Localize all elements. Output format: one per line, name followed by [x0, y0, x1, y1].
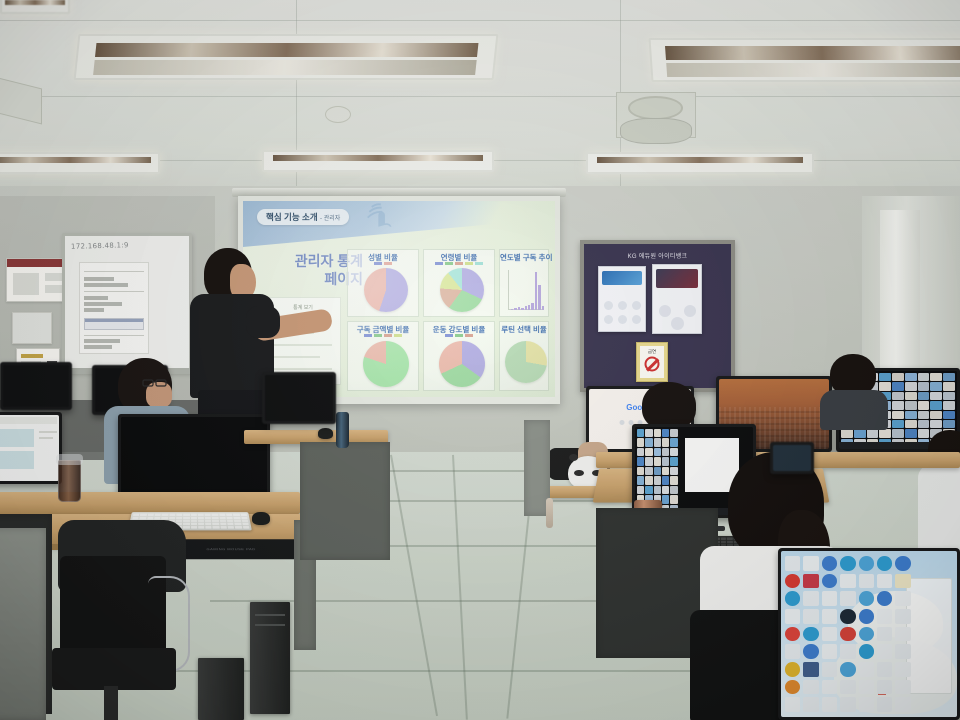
slide-header-sub: - 관리자 — [320, 216, 340, 222]
smoke-detector-icon — [325, 106, 351, 123]
chart-card-yearly: 연도별 구독 추이 — [499, 249, 549, 317]
monitor-back-left — [0, 362, 72, 410]
monitor-foreground-desktop — [778, 548, 960, 720]
chart-card-intensity: 운동 강도별 비율 — [423, 321, 495, 391]
pie-routine — [505, 341, 547, 383]
pie-age — [440, 268, 484, 312]
evacuation-map-poster — [6, 258, 68, 302]
pie-gender — [364, 268, 408, 312]
whiteboard-handout — [79, 262, 149, 354]
ceiling-light — [262, 150, 494, 172]
cup-lid — [56, 454, 83, 465]
slide-header-pill: 핵심 기능 소개 - 관리자 — [257, 209, 349, 225]
classroom-photo: 172.168.48.1:9 핵심 기능 소개 - 관리자 — [0, 0, 960, 720]
board-logo: KG 에듀원 아이티뱅크 — [628, 251, 688, 260]
divider-panel-left — [0, 528, 46, 720]
eyeglasses-icon — [142, 378, 168, 388]
ceiling-light — [74, 34, 499, 80]
chart-title: 루틴 선택 비율 — [500, 324, 548, 335]
pie-intensity — [439, 341, 485, 387]
info-poster-blue — [598, 266, 646, 332]
student-far-right-2 — [922, 430, 960, 550]
slide-header-text: 핵심 기능 소개 — [266, 212, 318, 222]
hand-pointer-icon — [363, 202, 397, 230]
water-bottle — [336, 412, 349, 448]
mouse-center — [318, 428, 333, 439]
pie-amount — [363, 341, 409, 387]
bulletin-board: KG 에듀원 아이티뱅크 금연 — [580, 240, 735, 392]
student-far-right — [820, 354, 888, 424]
chart-legend — [364, 334, 402, 337]
ceiling-light — [0, 152, 160, 174]
whiteboard-handwriting: 172.168.48.1:9 — [71, 241, 129, 251]
no-smoking-text: 금연 — [637, 349, 667, 355]
ceiling-light — [586, 152, 814, 174]
whiteboard: 172.168.48.1:9 — [62, 233, 192, 373]
mouse-left — [252, 512, 270, 525]
no-smoking-icon — [645, 357, 660, 372]
ceiling-light — [0, 0, 70, 14]
plastic-sleeve — [12, 312, 52, 344]
chart-card-gender: 성별 비율 — [347, 249, 419, 317]
pc-tower-left-2 — [198, 658, 244, 720]
chart-card-amount: 구독 금액별 비율 — [347, 321, 419, 391]
iced-coffee-cup — [58, 460, 81, 502]
vent-duct-icon — [628, 96, 683, 120]
pc-tower-left — [250, 602, 290, 714]
presenter-sleeve — [246, 306, 280, 338]
monitor-left-document — [0, 412, 62, 484]
keychain — [546, 498, 553, 528]
chair-front-left — [52, 556, 176, 720]
monitor-small-right — [770, 442, 814, 474]
chart-card-age: 연령별 비율 — [423, 249, 495, 317]
chart-legend — [445, 334, 473, 337]
chart-card-routine: 루틴 선택 비율 — [499, 321, 549, 391]
desk-front-left — [0, 492, 300, 514]
monitor-center-back — [262, 372, 336, 424]
chart-title: 연도별 구독 추이 — [500, 252, 548, 263]
ceiling-light — [648, 38, 960, 82]
desk-center-panel — [300, 442, 390, 560]
chart-legend — [374, 262, 392, 265]
ceiling-projector-mount — [620, 118, 692, 144]
mousepad-text: GAMING MOUSE PAD — [206, 547, 255, 551]
info-poster-red — [652, 264, 702, 334]
chart-legend — [435, 262, 483, 265]
bar-chart-yearly — [508, 270, 544, 310]
desktop-icon-grid — [781, 551, 915, 717]
no-smoking-sign: 금연 — [636, 342, 668, 382]
